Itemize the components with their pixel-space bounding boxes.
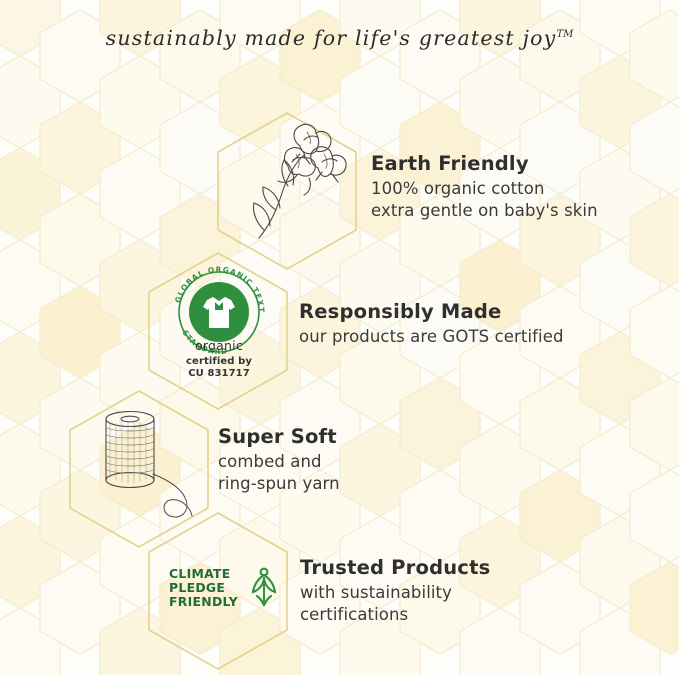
- gots-caption-code: CU 831717: [165, 368, 273, 381]
- climate-pledge-line-2: PLEDGE: [169, 581, 238, 595]
- feature-line: certifications: [300, 604, 490, 626]
- climate-pledge-line-1: CLIMATE: [169, 567, 238, 581]
- gots-caption-organic: organic: [165, 338, 273, 353]
- feature-line: our products are GOTS certified: [299, 326, 564, 348]
- climate-pledge-wings-icon: [243, 565, 285, 611]
- feature-line: extra gentle on baby's skin: [371, 200, 598, 222]
- feature-title: Super Soft: [218, 425, 340, 448]
- trusted-products-text: Trusted Products with sustainability cer…: [300, 556, 490, 626]
- responsibly-made-text: Responsibly Made our products are GOTS c…: [299, 300, 564, 348]
- gots-caption-certified-by: certified by: [165, 356, 273, 369]
- feature-title: Responsibly Made: [299, 300, 564, 323]
- feature-line: 100% organic cotton: [371, 178, 598, 200]
- feature-line: with sustainability: [300, 582, 490, 604]
- page-title: sustainably made for life's greatest joy…: [0, 26, 679, 50]
- earth-friendly-text: Earth Friendly 100% organic cotton extra…: [371, 152, 598, 222]
- feature-title: Trusted Products: [300, 556, 490, 579]
- feature-title: Earth Friendly: [371, 152, 598, 175]
- feature-line: ring-spun yarn: [218, 473, 340, 495]
- climate-pledge-friendly-icon: CLIMATE PLEDGE FRIENDLY: [169, 565, 285, 611]
- feature-line: combed and: [218, 451, 340, 473]
- trademark-symbol: TM: [556, 29, 573, 40]
- cotton-branch-icon: [212, 110, 362, 272]
- super-soft-text: Super Soft combed and ring-spun yarn: [218, 425, 340, 495]
- climate-pledge-line-3: FRIENDLY: [169, 595, 238, 609]
- headline-text: sustainably made for life's greatest joy: [106, 26, 557, 50]
